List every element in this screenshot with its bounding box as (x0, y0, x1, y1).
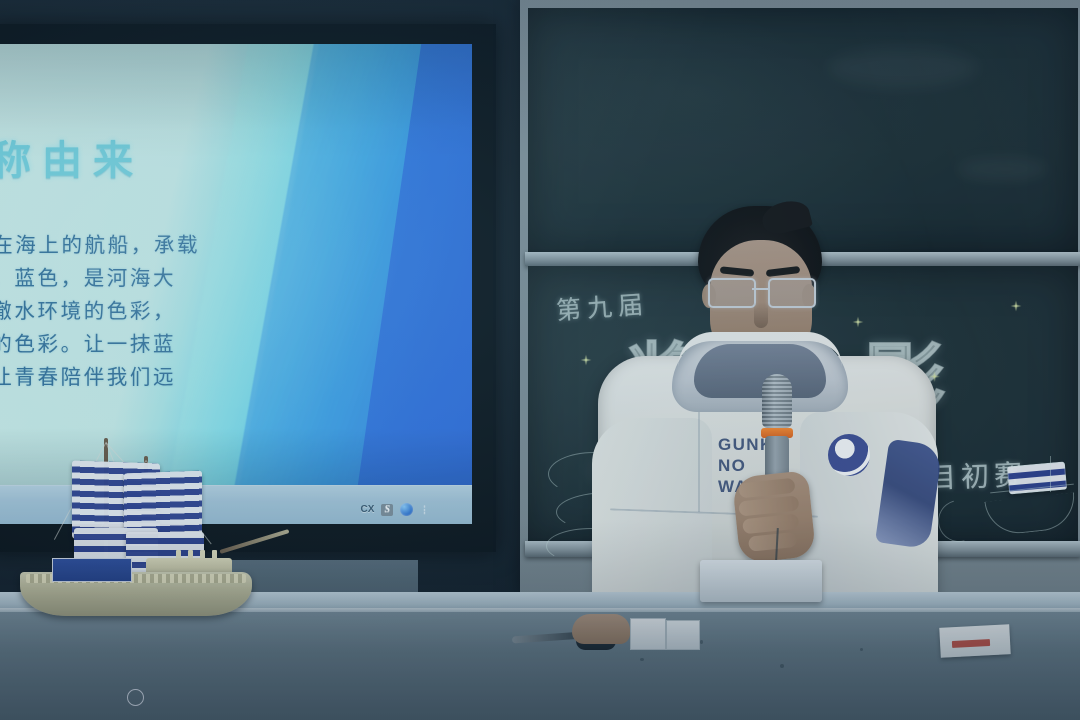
desk-front-panel (0, 612, 1080, 720)
nose (754, 302, 768, 328)
small-box[interactable] (666, 620, 700, 650)
tray-overflow-icon[interactable]: ⋮ (420, 505, 430, 514)
sogou-icon[interactable]: S (381, 504, 393, 516)
lens (768, 278, 816, 308)
system-tray[interactable]: CX S ⋮ (361, 503, 430, 516)
jacket-chest-logo (828, 434, 870, 476)
classroom-photo: 名称由来 如同在海上的航船，承载 与热情。蓝色，是河海大 ，是澄澈水环境的色彩，… (0, 0, 1080, 720)
hand-on-mouse (572, 614, 630, 644)
jacket-zip-seam (698, 412, 700, 512)
slide-body-line: 与热情。蓝色，是河海大 (0, 263, 362, 296)
desk-speckle (860, 648, 863, 651)
laptop[interactable] (700, 560, 822, 602)
hand-holding-microphone (732, 470, 817, 563)
desk-speckle (780, 664, 784, 668)
doodle-hull (984, 492, 1077, 536)
finger (748, 532, 797, 552)
chalk-smudge (828, 48, 978, 88)
jacket-left-sleeve (592, 418, 712, 618)
glasses-bridge (752, 288, 768, 290)
cx-icon[interactable]: CX (361, 505, 375, 515)
chalk-smudge (958, 158, 1048, 180)
slide-body-line: 青春，让青春陪伴我们远 (0, 362, 362, 395)
slide-title: 名称由来 (0, 128, 144, 186)
sailing-ship-model (6, 432, 294, 618)
microphone-head (762, 374, 792, 428)
slide-body-line: 子梦想的色彩。让一抹蓝 (0, 329, 362, 362)
ship-blue-flag (52, 558, 132, 582)
sailboat-doodle (986, 462, 1078, 550)
desk-speckle (640, 658, 644, 661)
slide-body-line: ，是澄澈水环境的色彩， (0, 296, 362, 329)
small-box[interactable] (630, 618, 666, 650)
sparkle-icon (1010, 300, 1022, 312)
slide-body-line: 如同在海上的航船，承载 (0, 230, 362, 263)
media-ball-icon[interactable] (400, 503, 413, 516)
desk-speckle (700, 640, 703, 644)
finger (738, 478, 795, 499)
finger (742, 513, 799, 534)
ship-flag-emblem (127, 689, 144, 706)
slide-body-text: 如同在海上的航船，承载 与热情。蓝色，是河海大 ，是澄澈水环境的色彩， 子梦想的… (0, 230, 362, 395)
lens (708, 278, 756, 308)
jacket-hood-edge (678, 332, 842, 367)
ship-bowsprit (219, 529, 289, 554)
